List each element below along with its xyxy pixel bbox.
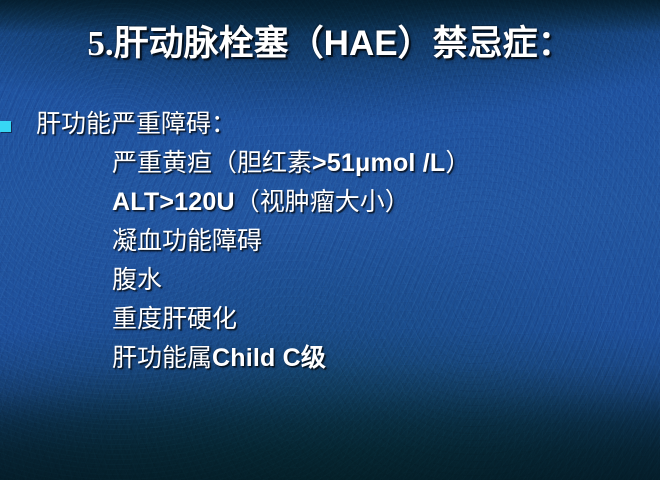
- sub-item-emphasis-value: >51μmol /L: [312, 149, 445, 177]
- sub-item-coagulation: 凝血功能障碍: [0, 222, 660, 261]
- bullet-item-liver-function: 肝功能严重障碍：: [0, 106, 660, 144]
- sub-item-lead-text: 凝血功能障碍: [112, 228, 262, 255]
- slide-body: 肝功能严重障碍： 严重黄疸（胆红素>51μmol /L） ALT>120U（视肿…: [0, 106, 660, 378]
- sub-item-emphasis-value: Child C: [212, 344, 301, 372]
- sub-item-jaundice: 严重黄疸（胆红素>51μmol /L）: [0, 144, 660, 183]
- sub-item-emphasis-value: ALT>120U: [112, 188, 235, 216]
- sub-item-lead-text: 重度肝硬化: [112, 306, 237, 333]
- sub-item-lead-text: 腹水: [112, 267, 162, 294]
- sub-item-ascites: 腹水: [0, 261, 660, 300]
- bullet-item-label: 肝功能严重障碍：: [36, 106, 236, 144]
- presentation-slide: 5.肝动脉栓塞（HAE）禁忌症： 肝功能严重障碍： 严重黄疸（胆红素>51μmo…: [0, 0, 660, 480]
- sub-item-lead-text: 严重黄疸（胆红素: [112, 150, 312, 177]
- sub-item-trail-text: ）: [445, 150, 470, 177]
- sub-item-cirrhosis: 重度肝硬化: [0, 300, 660, 339]
- slide-title-cjk-prefix: 肝动脉栓塞（: [114, 24, 324, 63]
- slide-content: 5.肝动脉栓塞（HAE）禁忌症： 肝功能严重障碍： 严重黄疸（胆红素>51μmo…: [0, 0, 660, 480]
- sub-item-lead-text: 肝功能属: [112, 345, 212, 372]
- sub-item-trail-text: （视肿瘤大小）: [235, 189, 410, 216]
- sub-item-child-c: 肝功能属Child C级: [0, 339, 660, 378]
- square-bullet-icon: [0, 121, 11, 132]
- slide-title-number: 5.: [87, 24, 113, 63]
- slide-title: 5.肝动脉栓塞（HAE）禁忌症：: [0, 22, 660, 66]
- sub-item-trail-text: 级: [301, 345, 326, 372]
- slide-title-cjk-suffix: ）禁忌症：: [398, 24, 573, 63]
- slide-title-abbreviation: HAE: [324, 24, 398, 63]
- sub-item-alt: ALT>120U（视肿瘤大小）: [0, 183, 660, 222]
